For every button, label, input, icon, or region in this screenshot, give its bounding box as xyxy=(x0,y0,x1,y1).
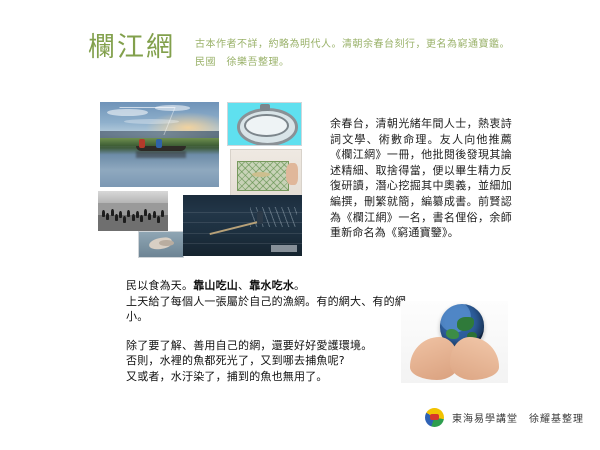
subtitle-line-1: 古本作者不詳，約略為明代人。清朝余春台刻行，更名為窮通寶鑑。 xyxy=(195,36,525,54)
photo-cormorant-birds-bw xyxy=(98,191,168,231)
photo-fisherman-dark-water xyxy=(183,195,302,256)
standing-fisherman xyxy=(257,211,263,224)
continent-shape xyxy=(457,317,474,330)
subtitle-block: 古本作者不詳，約略為明代人。清朝余春台刻行，更名為窮通寶鑑。 民國 徐樂吾整理。 xyxy=(195,36,525,72)
caught-fish xyxy=(252,172,270,177)
water-reflection xyxy=(136,151,186,158)
paragraph-spacer xyxy=(126,325,416,338)
bottom-line-5: 又或者，水汙染了，捕到的魚也無用了。 xyxy=(126,369,416,385)
bottom-line-2: 上天給了每個人一張屬於自己的漁網。有的網大、有的網小。 xyxy=(126,294,416,325)
slide-canvas: 欄江網 古本作者不詳，約略為明代人。清朝余春台刻行，更名為窮通寶鑑。 民國 徐樂… xyxy=(0,0,600,450)
footer-text: 東海易學講堂 徐耀基整理 xyxy=(452,410,584,425)
photo-hands-holding-earth xyxy=(401,301,508,383)
bottom-paragraph: 民以食為天。靠山吃山、靠水吃水。 上天給了每個人一張屬於自己的漁網。有的網大、有… xyxy=(126,278,416,384)
page-title: 欄江網 xyxy=(88,34,175,61)
pelican-wing xyxy=(159,240,174,247)
fisherman-red xyxy=(139,139,145,148)
photo-cyan-net-diagram xyxy=(227,102,302,146)
diagram-inner-ring xyxy=(244,114,289,137)
bottom-line-1: 民以食為天。靠山吃山、靠水吃水。 xyxy=(126,278,416,294)
photo-river-sunset-fishing xyxy=(100,102,219,187)
fisherman-blue xyxy=(156,139,162,148)
holding-hand xyxy=(286,163,299,185)
bottom-line-3: 除了要了解、善用自己的網，還要好好愛護環境。 xyxy=(126,338,416,354)
bottom-line-4: 否則，水裡的魚都死光了，又到哪去捕魚呢? xyxy=(126,353,416,369)
right-paragraph: 余春台，清朝光緒年間人士，熱衷詩詞文學、術數命理。友人向他推薦《欄江網》一冊，他… xyxy=(330,116,512,241)
photo-pelican-on-water xyxy=(138,231,184,258)
subtitle-line-2: 民國 徐樂吾整理。 xyxy=(195,54,525,72)
logo-core xyxy=(430,414,439,420)
photo-collage xyxy=(95,96,305,254)
diagram-knob xyxy=(260,104,270,111)
photo-watermark xyxy=(271,245,297,252)
right-palm xyxy=(450,337,499,380)
sky-band xyxy=(98,191,168,203)
donghai-yixue-logo-icon xyxy=(425,408,444,427)
continent-shape xyxy=(446,329,459,339)
footer-credit: 東海易學講堂 徐耀基整理 xyxy=(425,408,584,427)
photo-green-fishing-net xyxy=(230,149,302,201)
net-pole xyxy=(109,107,176,135)
